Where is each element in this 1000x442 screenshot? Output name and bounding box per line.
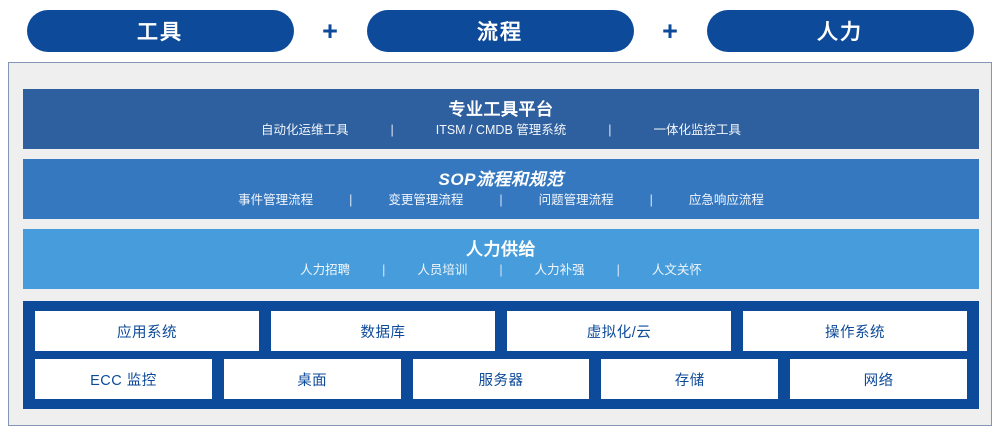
layer-band-sop-items: 事件管理流程 | 变更管理流程 | 问题管理流程 | 应急响应流程 (238, 193, 764, 208)
pill-process[interactable]: 流程 (367, 10, 634, 52)
pill-process-label: 流程 (477, 16, 523, 46)
infra-cell-storage[interactable]: 存储 (601, 359, 778, 399)
plus-icon-2: + (634, 18, 707, 45)
pill-manpower[interactable]: 人力 (707, 10, 974, 52)
infra-cell-network[interactable]: 网络 (790, 359, 967, 399)
infra-cell-desktop[interactable]: 桌面 (224, 359, 401, 399)
formula-row: 工具 + 流程 + 人力 (0, 0, 1000, 62)
pill-tools-label: 工具 (137, 16, 183, 46)
pill-manpower-label: 人力 (817, 16, 863, 46)
layer-band-manpower[interactable]: 人力供给 人力招聘 | 人员培训 | 人力补强 | 人文关怀 (23, 229, 979, 289)
layer-band-tools[interactable]: 专业工具平台 自动化运维工具 | ITSM / CMDB 管理系统 | 一体化监… (23, 89, 979, 149)
layer-band-sop-title: SOP流程和规范 (439, 170, 564, 190)
layer-item: 一体化监控工具 (654, 123, 742, 138)
infra-cell-server[interactable]: 服务器 (413, 359, 590, 399)
infra-cell-database[interactable]: 数据库 (271, 311, 495, 351)
layer-band-manpower-items: 人力招聘 | 人员培训 | 人力补强 | 人文关怀 (300, 263, 702, 278)
capability-frame: 专业工具平台 自动化运维工具 | ITSM / CMDB 管理系统 | 一体化监… (8, 62, 992, 426)
infrastructure-container: 应用系统 数据库 虚拟化/云 操作系统 ECC 监控 桌面 服务器 存储 网络 (23, 301, 979, 409)
layer-band-sop[interactable]: SOP流程和规范 事件管理流程 | 变更管理流程 | 问题管理流程 | 应急响应… (23, 159, 979, 219)
item-separator: | (617, 263, 620, 278)
layer-item: 人文关怀 (652, 263, 702, 278)
infra-cell-virtualization-cloud[interactable]: 虚拟化/云 (507, 311, 731, 351)
layer-item: 人力招聘 (300, 263, 350, 278)
diagram-canvas: 工具 + 流程 + 人力 专业工具平台 自动化运维工具 | ITSM / CMD… (0, 0, 1000, 442)
item-separator: | (382, 263, 385, 278)
infra-cell-application[interactable]: 应用系统 (35, 311, 259, 351)
item-separator: | (608, 123, 611, 138)
item-separator: | (499, 193, 502, 208)
item-separator: | (499, 263, 502, 278)
layer-band-tools-items: 自动化运维工具 | ITSM / CMDB 管理系统 | 一体化监控工具 (261, 123, 741, 138)
layer-item: 人力补强 (535, 263, 585, 278)
layer-band-tools-title: 专业工具平台 (449, 100, 554, 120)
layer-item: 人员培训 (417, 263, 467, 278)
item-separator: | (650, 193, 653, 208)
item-separator: | (349, 193, 352, 208)
pill-tools[interactable]: 工具 (27, 10, 294, 52)
item-separator: | (390, 123, 393, 138)
layer-item: ITSM / CMDB 管理系统 (436, 123, 567, 138)
infrastructure-row-1: 应用系统 数据库 虚拟化/云 操作系统 (35, 311, 967, 351)
layer-item: 变更管理流程 (388, 193, 463, 208)
plus-icon-1: + (294, 18, 367, 45)
layer-item: 事件管理流程 (238, 193, 313, 208)
layer-item: 应急响应流程 (689, 193, 764, 208)
layer-band-manpower-title: 人力供给 (466, 240, 536, 260)
layer-item: 问题管理流程 (539, 193, 614, 208)
infra-cell-ecc-monitoring[interactable]: ECC 监控 (35, 359, 212, 399)
layer-item: 自动化运维工具 (261, 123, 349, 138)
infrastructure-row-2: ECC 监控 桌面 服务器 存储 网络 (35, 359, 967, 399)
infra-cell-operating-system[interactable]: 操作系统 (743, 311, 967, 351)
